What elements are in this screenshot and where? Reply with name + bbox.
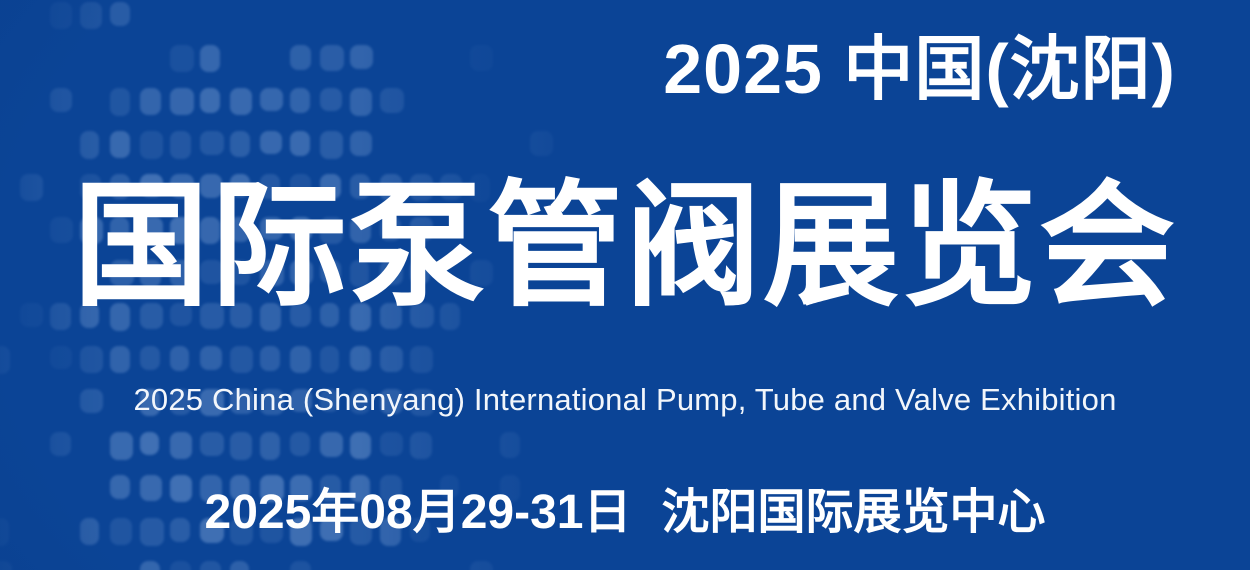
banner-subtitle-english: 2025 China (Shenyang) International Pump… [0,383,1250,417]
banner-title-line-1: 2025 中国(沈阳) [663,34,1176,104]
event-date: 2025年08月29-31日 [205,486,632,539]
banner-content: 2025 中国(沈阳) 国际泵管阀展览会 2025 China (Shenyan… [0,0,1250,570]
banner-title-line-2: 国际泵管阀展览会 [0,178,1250,314]
banner-date-venue-row: 2025年08月29-31日沈阳国际展览中心 [0,489,1250,537]
event-venue: 沈阳国际展览中心 [661,486,1045,539]
exhibition-banner: 2025 中国(沈阳) 国际泵管阀展览会 2025 China (Shenyan… [0,0,1250,570]
